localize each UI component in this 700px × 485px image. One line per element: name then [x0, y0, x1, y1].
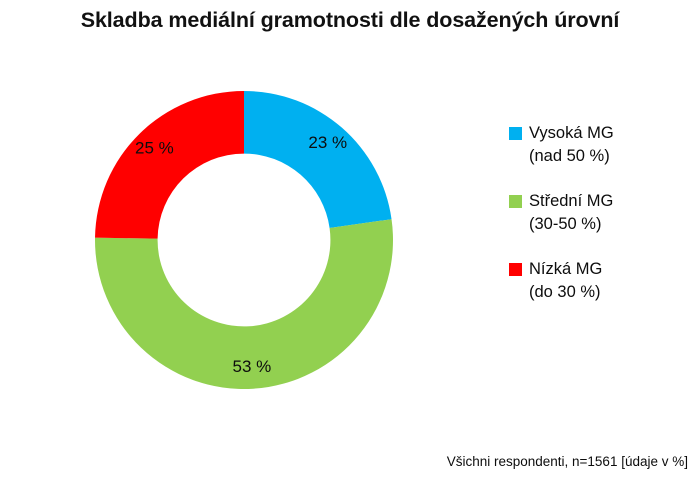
- legend-text-nizka-mg: Nízká MG (do 30 %): [509, 258, 694, 304]
- legend-label-nizka-mg: Nízká MG: [529, 258, 694, 281]
- data-label-vysoka-mg: 23 %: [308, 133, 347, 152]
- donut-slices: [95, 91, 393, 389]
- legend-item-nizka-mg[interactable]: Nízká MG (do 30 %): [509, 258, 694, 304]
- legend-item-stredni-mg[interactable]: Střední MG (30-50 %): [509, 190, 694, 236]
- legend-label-vysoka-mg: Vysoká MG: [529, 122, 694, 145]
- legend-swatch-icon-stredni-mg: [509, 195, 522, 208]
- legend-label-stredni-mg: Střední MG: [529, 190, 694, 213]
- data-label-nizka-mg: 25 %: [135, 138, 174, 157]
- chart-footnote: Všichni respondenti, n=1561 [údaje v %]: [447, 454, 688, 469]
- legend-text-stredni-mg: Střední MG (30-50 %): [509, 190, 694, 236]
- legend-item-vysoka-mg[interactable]: Vysoká MG (nad 50 %): [509, 122, 694, 168]
- data-label-stredni-mg: 53 %: [233, 357, 272, 376]
- donut-slice-vysoka-mg[interactable]: [244, 91, 392, 228]
- legend-range-vysoka-mg: (nad 50 %): [529, 145, 694, 168]
- chart-title: Skladba mediální gramotnosti dle dosažen…: [0, 8, 700, 33]
- legend-range-stredni-mg: (30-50 %): [529, 213, 694, 236]
- donut-chart-plot-area: 23 % 53 % 25 %: [88, 82, 402, 398]
- donut-chart-svg: 23 % 53 % 25 %: [88, 82, 402, 398]
- chart-legend: Vysoká MG (nad 50 %) Střední MG (30-50 %…: [509, 122, 694, 304]
- legend-range-nizka-mg: (do 30 %): [529, 281, 694, 304]
- legend-swatch-icon-vysoka-mg: [509, 127, 522, 140]
- donut-slice-nizka-mg[interactable]: [95, 91, 244, 239]
- legend-swatch-icon-nizka-mg: [509, 263, 522, 276]
- chart-container: Skladba mediální gramotnosti dle dosažen…: [0, 0, 700, 485]
- legend-text-vysoka-mg: Vysoká MG (nad 50 %): [509, 122, 694, 168]
